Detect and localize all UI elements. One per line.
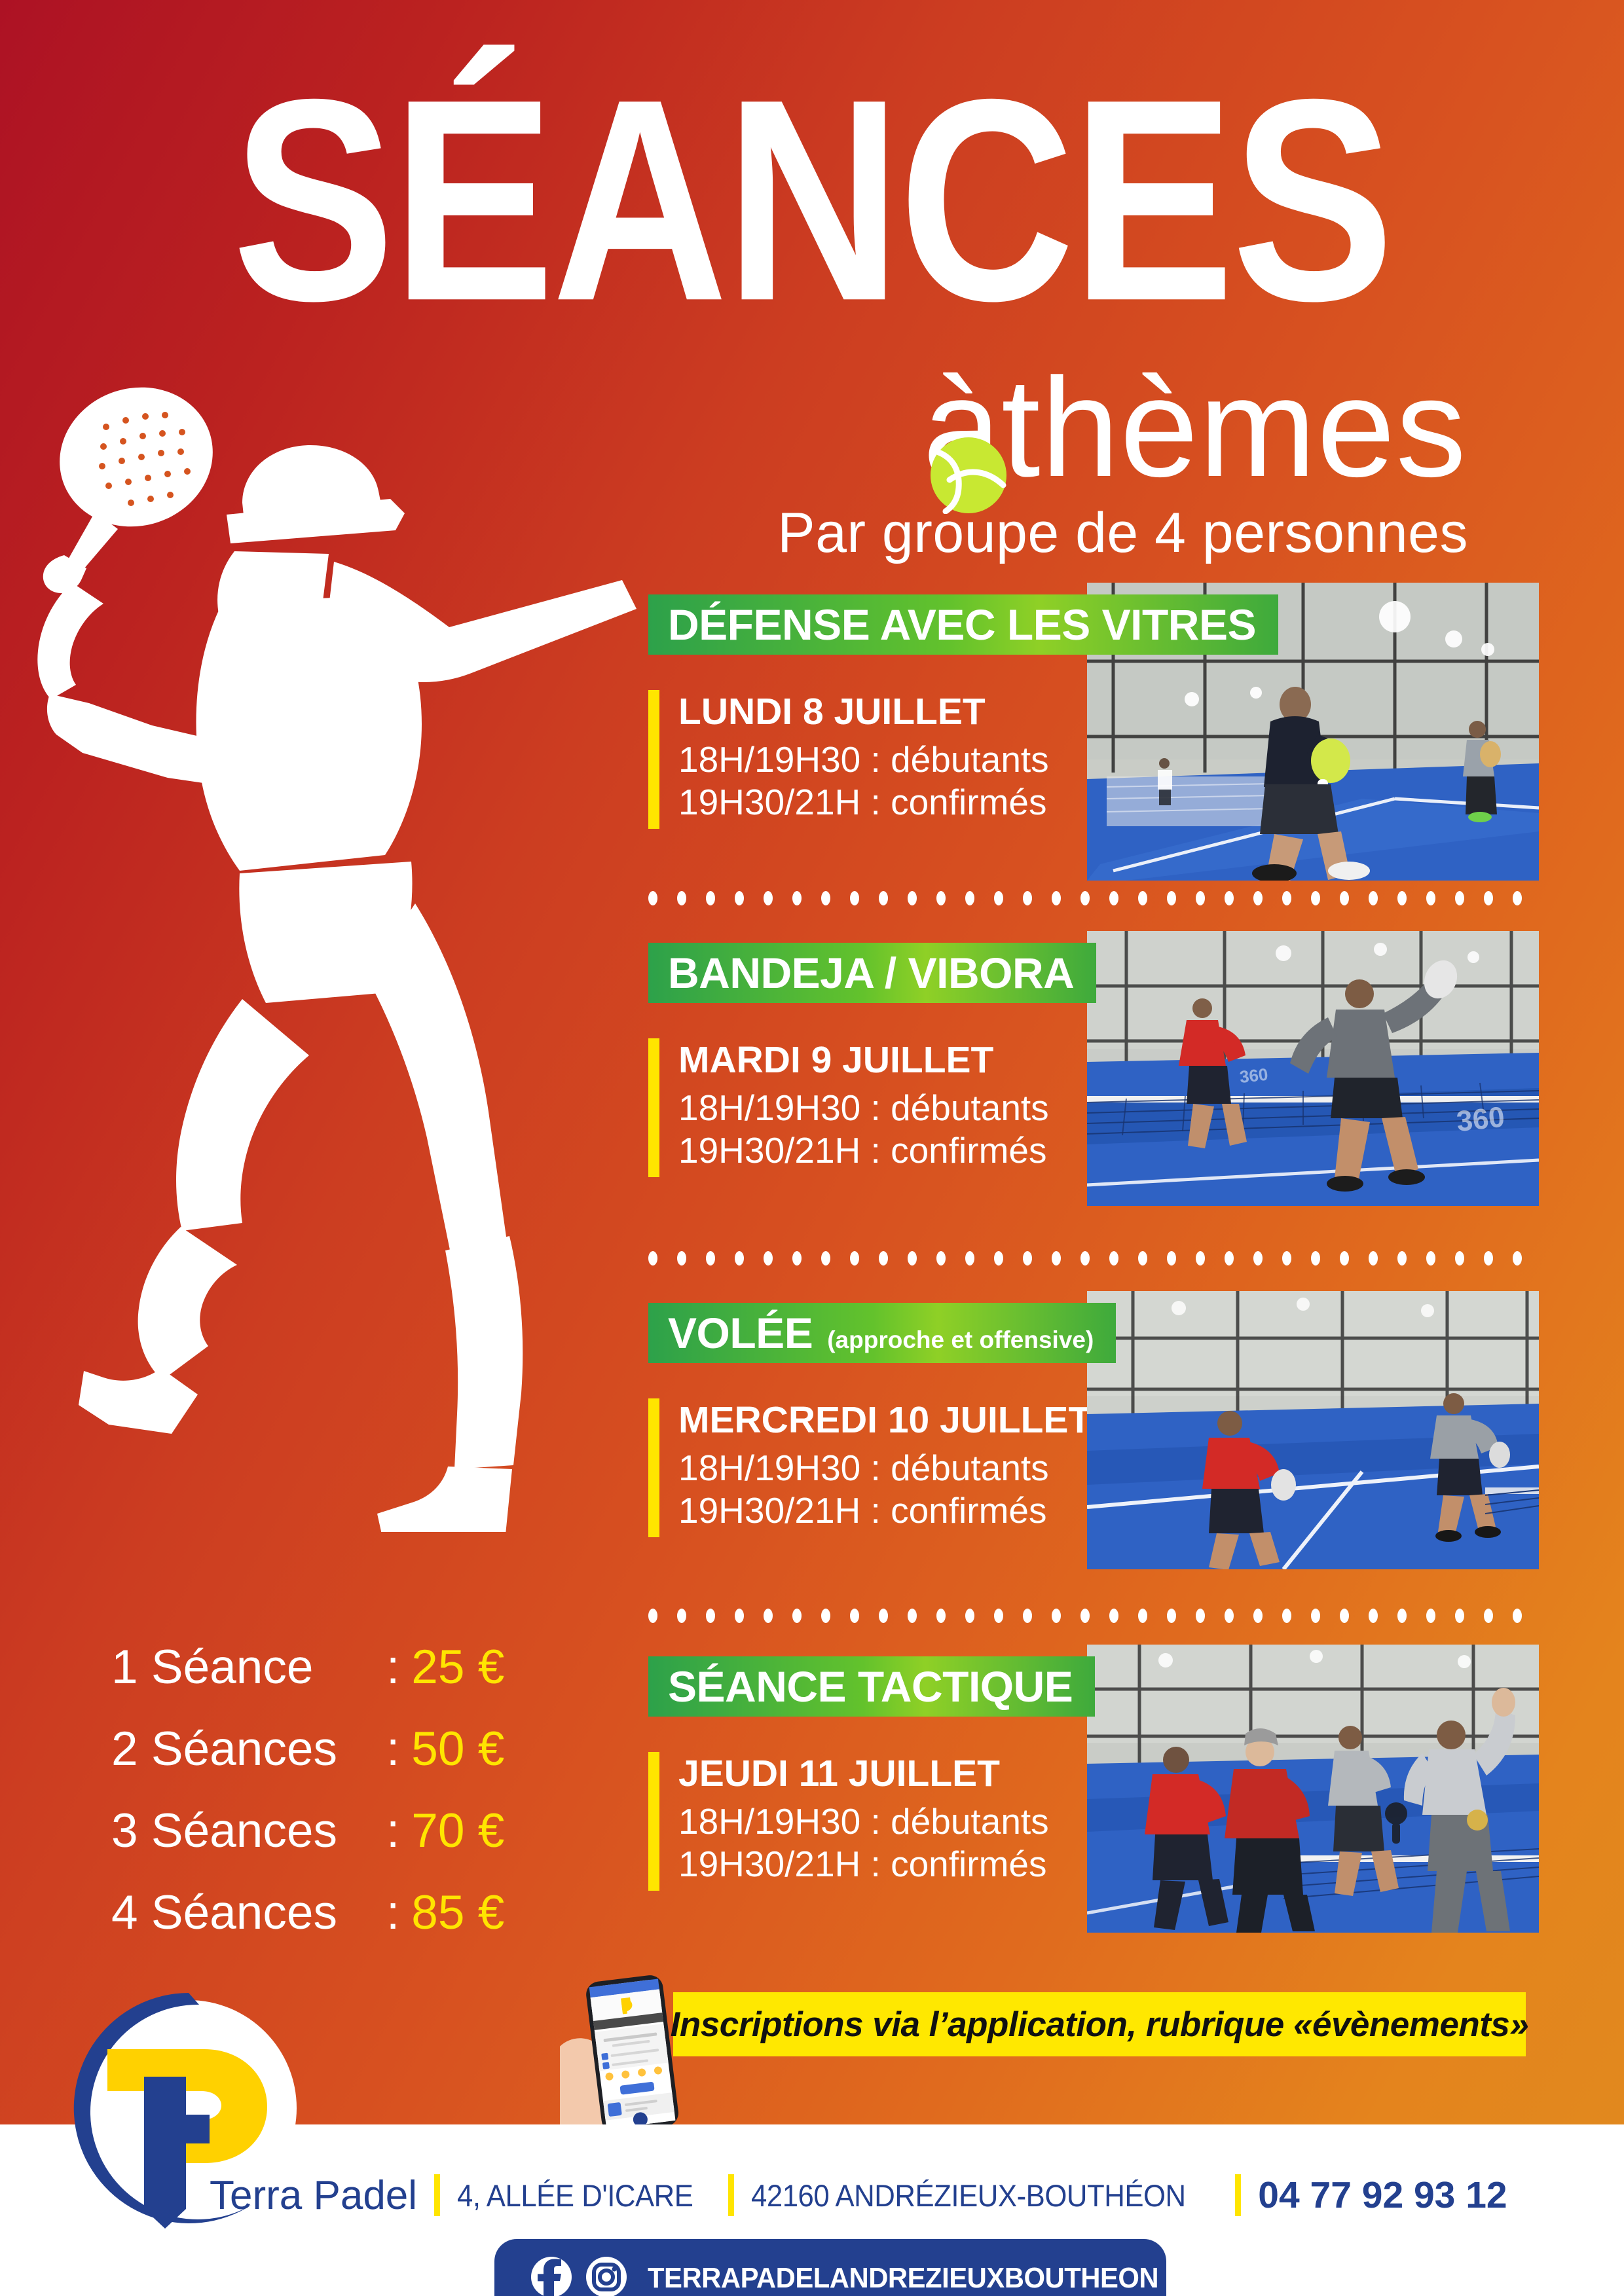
- separator-dot: [1484, 891, 1493, 905]
- separator-dot: [965, 891, 974, 905]
- separator-dot: [965, 1609, 974, 1623]
- separator-dot: [648, 891, 657, 905]
- separator-dot: [1225, 891, 1234, 905]
- separator-dot: [648, 1609, 657, 1623]
- separator-dot: [792, 1609, 802, 1623]
- separator-dot: [1369, 1609, 1378, 1623]
- separator-dot: [1282, 1609, 1291, 1623]
- separator-dot: [908, 891, 917, 905]
- accent-bar: [648, 690, 659, 829]
- separator-dot: [1080, 891, 1090, 905]
- poster-canvas: SÉANCES à thèmes Par groupe de 4 personn…: [0, 0, 1624, 2296]
- price-value: 70 €: [411, 1804, 504, 1858]
- session-title: VOLÉE: [668, 1303, 813, 1363]
- separator-dot: [1513, 891, 1522, 905]
- separator-dot: [821, 1609, 830, 1623]
- session-title: SÉANCE TACTIQUE: [668, 1656, 1073, 1717]
- inscription-text: Inscriptions via l’application, rubrique…: [671, 2005, 1529, 2045]
- footer-phone-number[interactable]: 04 77 92 93 12: [1258, 2174, 1507, 2217]
- subtitle-a-themes: à thèmes: [923, 357, 1467, 498]
- separator-dot: [1397, 1609, 1407, 1623]
- inscription-banner: Inscriptions via l’application, rubrique…: [673, 1992, 1526, 2056]
- separator-dot: [764, 891, 773, 905]
- facebook-icon[interactable]: [531, 2257, 572, 2296]
- separator-dot: [936, 891, 946, 905]
- footer-address: 4, ALLÉE D'ICARE: [457, 2178, 693, 2214]
- separator-dot: [1052, 1609, 1061, 1623]
- separator-dot: [850, 1609, 859, 1623]
- separator-dot: [1340, 891, 1349, 905]
- footer-city: 42160 ANDRÉZIEUX-BOUTHÉON: [751, 2178, 1186, 2214]
- separator-dot: [821, 891, 830, 905]
- separator-dot: [1138, 1251, 1147, 1266]
- separator-dot: [1426, 1609, 1435, 1623]
- separator-dot: [1023, 1251, 1032, 1266]
- separator-dot: [821, 1251, 830, 1266]
- price-row: 3 Séances:70 €: [111, 1804, 504, 1858]
- separator-dot: [994, 891, 1003, 905]
- separator-dot: [706, 1609, 715, 1623]
- separator-dot: [994, 1609, 1003, 1623]
- separator-dot: [936, 1251, 946, 1266]
- price-value: 50 €: [411, 1722, 504, 1776]
- separator-dot: [908, 1609, 917, 1623]
- separator-dot: [1196, 891, 1205, 905]
- session-photo: 360 360: [1087, 931, 1539, 1206]
- price-list: 1 Séance:25 €2 Séances:50 €3 Séances:70 …: [111, 1640, 504, 1967]
- separator-dot: [1080, 1609, 1090, 1623]
- price-label: 3 Séances: [111, 1804, 386, 1858]
- separator-dot: [1311, 891, 1320, 905]
- separator-dot: [936, 1609, 946, 1623]
- separator-dot: [1311, 1251, 1320, 1266]
- separator-dot: [1196, 1609, 1205, 1623]
- session-title-bar: VOLÉE(approche et offensive): [648, 1303, 1116, 1363]
- social-handle-text: TERRAPADELANDREZIEUXBOUTHEON: [648, 2262, 1158, 2295]
- separator-dot: [1455, 1251, 1464, 1266]
- session-block-1: DÉFENSE AVEC LES VITRESLUNDI 8 JUILLET18…: [648, 594, 1536, 860]
- price-label: 2 Séances: [111, 1722, 386, 1776]
- separator-dot: [1167, 891, 1176, 905]
- session-title: BANDEJA / VIBORA: [668, 943, 1074, 1003]
- separator-dot: [677, 891, 686, 905]
- separator-dot: [1253, 891, 1263, 905]
- separator-dot: [879, 1251, 888, 1266]
- separator-dot: [1138, 1609, 1147, 1623]
- price-row: 1 Séance:25 €: [111, 1640, 504, 1694]
- separator-dot: [1513, 1251, 1522, 1266]
- session-title-bar: BANDEJA / VIBORA: [648, 943, 1096, 1003]
- price-separator: :: [386, 1722, 399, 1776]
- separator-dot: [735, 1251, 744, 1266]
- separator-dot: [1311, 1609, 1320, 1623]
- session-title: DÉFENSE AVEC LES VITRES: [668, 594, 1256, 655]
- divider: [728, 2174, 734, 2216]
- separator-dot: [648, 1251, 657, 1266]
- padel-player-silhouette: [26, 386, 688, 1532]
- separator-dot: [764, 1251, 773, 1266]
- separator-dot: [792, 891, 802, 905]
- separator-dot: [1196, 1251, 1205, 1266]
- separator-dot: [1109, 1251, 1118, 1266]
- price-label: 1 Séance: [111, 1640, 386, 1694]
- accent-bar: [648, 1398, 659, 1537]
- headline-text: SÉANCES: [115, 62, 1509, 338]
- session-title-bar: SÉANCE TACTIQUE: [648, 1656, 1095, 1717]
- session-block-2: 360 360 BANDEJA / VIBORAMARDI 9 JUILLET1…: [648, 943, 1536, 1209]
- footer-brand-name: Terra Padel: [210, 2172, 417, 2219]
- poster-headline: SÉANCES: [115, 62, 1509, 296]
- separator-dot: [764, 1609, 773, 1623]
- price-label: 4 Séances: [111, 1886, 386, 1940]
- separator-dot: [1455, 891, 1464, 905]
- divider: [434, 2174, 440, 2216]
- separator-dot: [735, 891, 744, 905]
- separator-dot: [1080, 1251, 1090, 1266]
- session-block-3: VOLÉE(approche et offensive)MERCREDI 10 …: [648, 1303, 1536, 1569]
- separator-dot: [1167, 1251, 1176, 1266]
- session-photo: [1087, 1291, 1539, 1569]
- session-title-bar: DÉFENSE AVEC LES VITRES: [648, 594, 1278, 655]
- poster-tagline: Par groupe de 4 personnes: [777, 501, 1468, 566]
- svg-text:360: 360: [1238, 1065, 1268, 1087]
- separator-dot: [850, 891, 859, 905]
- separator-dot: [879, 891, 888, 905]
- separator-dot: [1513, 1609, 1522, 1623]
- separator-dot: [850, 1251, 859, 1266]
- separator-dot: [1138, 891, 1147, 905]
- separator-dot: [1484, 1609, 1493, 1623]
- price-separator: :: [386, 1886, 399, 1940]
- separator-dot: [1369, 1251, 1378, 1266]
- separator-dot: [1426, 891, 1435, 905]
- separator-dot: [1023, 1609, 1032, 1623]
- separator-dot: [1167, 1609, 1176, 1623]
- separator-dot: [706, 1251, 715, 1266]
- separator-dot: [1369, 891, 1378, 905]
- subtitle-letter-a: à: [923, 357, 1001, 498]
- price-value: 85 €: [411, 1886, 504, 1940]
- separator-dot: [1052, 891, 1061, 905]
- separator-dot: [1253, 1251, 1263, 1266]
- separator-dot: [1397, 1251, 1407, 1266]
- session-subtitle: (approche et offensive): [827, 1310, 1094, 1370]
- separator-dot: [735, 1609, 744, 1623]
- separator-dot: [1109, 1609, 1118, 1623]
- separator-dot: [1484, 1251, 1493, 1266]
- separator-dot: [879, 1609, 888, 1623]
- divider: [1235, 2174, 1241, 2216]
- svg-text:360: 360: [1455, 1101, 1506, 1138]
- separator-dot: [1282, 891, 1291, 905]
- separator-dot: [1397, 891, 1407, 905]
- separator-dot: [1340, 1251, 1349, 1266]
- separator-dot: [677, 1251, 686, 1266]
- separator-dot: [1052, 1251, 1061, 1266]
- separator-dot: [1023, 891, 1032, 905]
- section-separator: [648, 1250, 1526, 1266]
- price-row: 4 Séances:85 €: [111, 1886, 504, 1940]
- price-value: 25 €: [411, 1640, 504, 1694]
- instagram-icon[interactable]: [586, 2257, 627, 2296]
- footer-contact-line: Terra Padel 4, ALLÉE D'ICARE 42160 ANDRÉ…: [210, 2167, 1507, 2223]
- separator-dot: [1282, 1251, 1291, 1266]
- separator-dot: [1253, 1609, 1263, 1623]
- separator-dot: [1109, 891, 1118, 905]
- separator-dot: [994, 1251, 1003, 1266]
- separator-dot: [1455, 1609, 1464, 1623]
- separator-dot: [1225, 1251, 1234, 1266]
- subtitle-rest: thèmes: [1001, 357, 1467, 498]
- separator-dot: [792, 1251, 802, 1266]
- separator-dot: [1225, 1609, 1234, 1623]
- separator-dot: [706, 891, 715, 905]
- accent-bar: [648, 1038, 659, 1177]
- section-separator: [648, 890, 1526, 906]
- section-separator: [648, 1608, 1526, 1624]
- price-separator: :: [386, 1640, 399, 1694]
- price-row: 2 Séances:50 €: [111, 1722, 504, 1776]
- separator-dot: [1426, 1251, 1435, 1266]
- price-separator: :: [386, 1804, 399, 1858]
- separator-dot: [908, 1251, 917, 1266]
- separator-dot: [1340, 1609, 1349, 1623]
- session-block-4: SÉANCE TACTIQUEJEUDI 11 JUILLET18H/19H30…: [648, 1656, 1536, 1922]
- accent-bar: [648, 1752, 659, 1891]
- separator-dot: [965, 1251, 974, 1266]
- social-bar: TERRAPADELANDREZIEUXBOUTHEON: [494, 2239, 1166, 2296]
- separator-dot: [677, 1609, 686, 1623]
- session-photo: [1087, 1645, 1539, 1933]
